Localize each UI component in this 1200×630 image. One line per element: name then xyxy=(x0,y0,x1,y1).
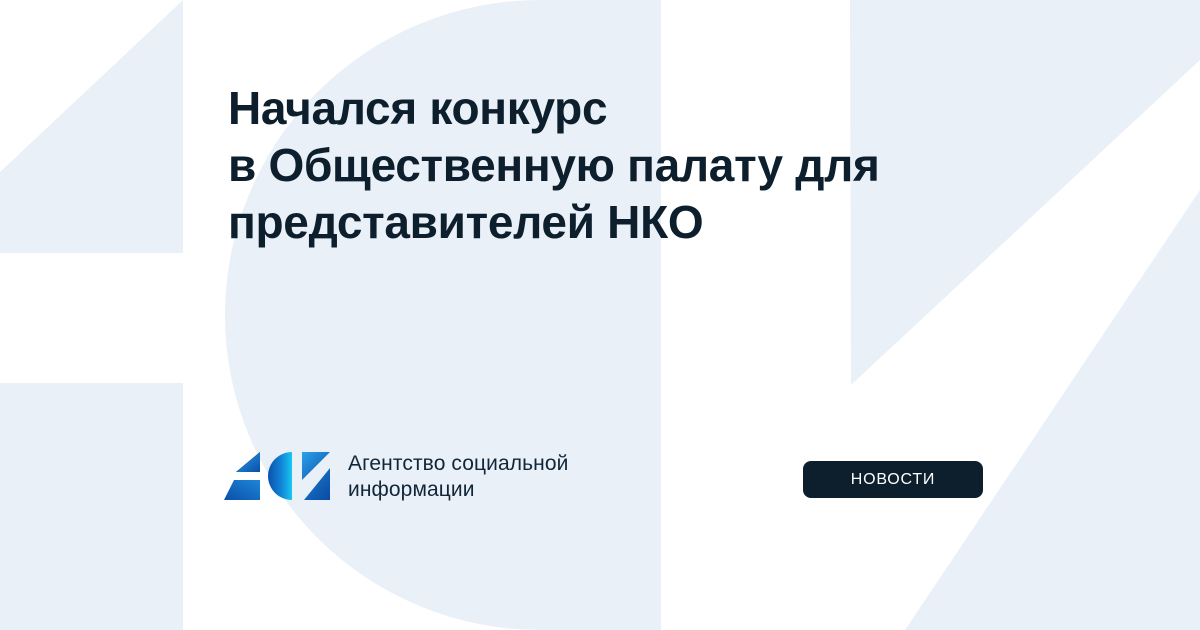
category-badge-news[interactable]: НОВОСТИ xyxy=(803,461,983,498)
news-share-card: Начался конкурс в Общественную палату дл… xyxy=(0,0,1200,630)
watermark-left-lower-bar xyxy=(0,383,183,630)
watermark-left-upper-triangle xyxy=(0,0,183,253)
logo-shape-a-lower xyxy=(224,480,260,500)
logo-wordmark: Агентство социальной информации xyxy=(348,451,568,503)
logo-shape-a-upper-fill xyxy=(236,452,260,472)
asi-logo-mark-icon xyxy=(224,448,334,506)
site-logo[interactable]: Агентство социальной информации xyxy=(224,448,568,506)
headline: Начался конкурс в Общественную палату дл… xyxy=(228,80,1018,251)
logo-shape-c-halfdisc xyxy=(268,452,292,500)
watermark-right-lower-triangle xyxy=(905,190,1200,630)
